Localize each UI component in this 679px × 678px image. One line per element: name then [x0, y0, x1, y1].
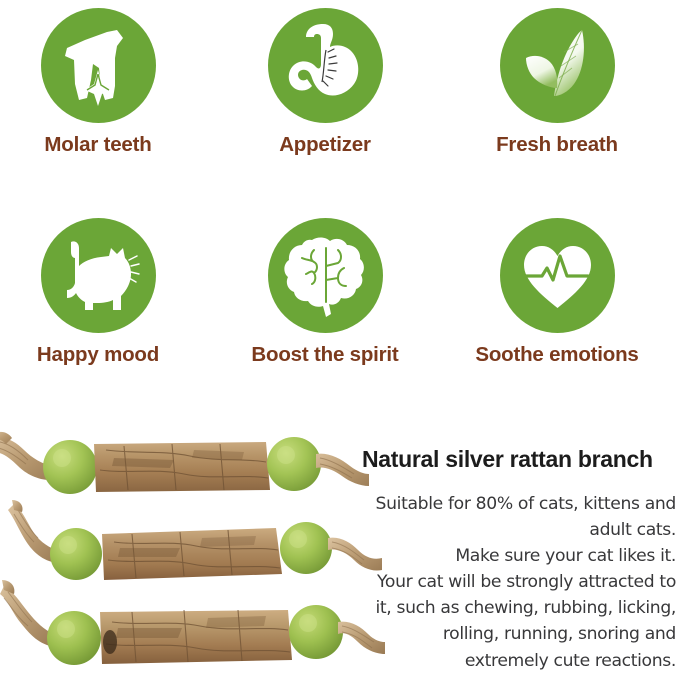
product-photo-silvervine-stick-bottom: [0, 580, 385, 676]
benefit-circle: [500, 218, 615, 333]
description-line: Suitable for 80% of cats, kittens and: [358, 491, 676, 517]
product-description: Suitable for 80% of cats, kittens and ad…: [358, 491, 676, 674]
benefit-item-happy-mood: Happy mood: [3, 218, 193, 366]
description-line: it, such as chewing, rubbing, licking,: [358, 595, 676, 621]
benefit-circle: [41, 8, 156, 123]
benefit-circle: [268, 8, 383, 123]
benefit-label: Happy mood: [3, 345, 193, 366]
benefit-circle: [268, 218, 383, 333]
brain-icon: [268, 218, 383, 333]
benefit-item-molar-teeth: Molar teeth: [3, 8, 193, 156]
benefit-item-fresh-breath: Fresh breath: [462, 8, 652, 156]
benefit-circle: [41, 218, 156, 333]
benefit-label: Boost the spirit: [230, 345, 420, 366]
description-line: extremely cute reactions.: [358, 648, 676, 674]
benefit-label: Molar teeth: [3, 135, 193, 156]
stomach-icon: [268, 8, 383, 123]
description-line: Your cat will be strongly attracted to: [358, 569, 676, 595]
benefits-grid: Molar teeth Appetizer: [0, 0, 679, 412]
description-line: adult cats.: [358, 517, 676, 543]
product-copy: Natural silver rattan branch Suitable fo…: [358, 432, 676, 674]
benefit-item-appetizer: Appetizer: [230, 8, 420, 156]
benefit-label: Appetizer: [230, 135, 420, 156]
benefit-circle: [500, 8, 615, 123]
product-heading: Natural silver rattan branch: [362, 447, 676, 472]
tooth-icon: [41, 8, 156, 123]
heart-pulse-icon: [500, 218, 615, 333]
description-line: rolling, running, snoring and: [358, 621, 676, 647]
cat-icon: [41, 218, 156, 333]
product-photo-group: [0, 412, 400, 678]
benefit-item-soothe-emotions: Soothe emotions: [462, 218, 652, 366]
benefit-label: Soothe emotions: [462, 345, 652, 366]
benefit-item-boost-the-spirit: Boost the spirit: [230, 218, 420, 366]
leaves-icon: [500, 8, 615, 123]
description-line: Make sure your cat likes it.: [358, 543, 676, 569]
benefit-label: Fresh breath: [462, 135, 652, 156]
